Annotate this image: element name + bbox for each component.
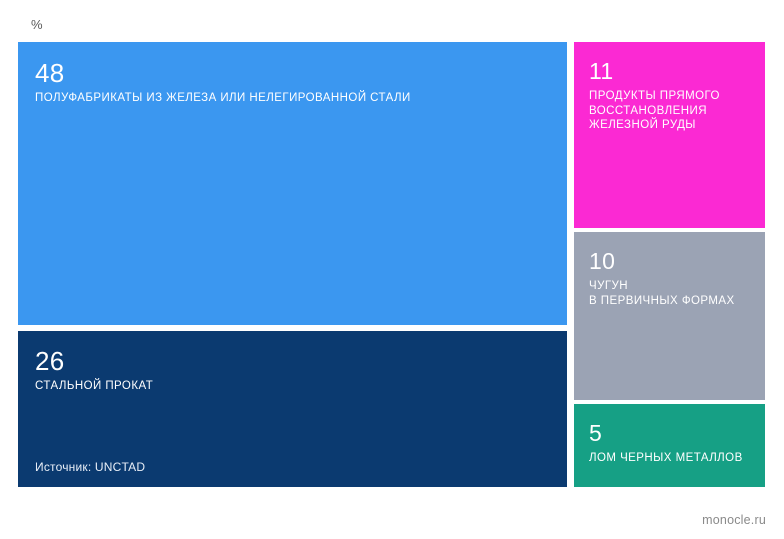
- source-note: Источник: UNCTAD: [35, 460, 145, 474]
- treemap-chart: % 48 ПОЛУФАБРИКАТЫ ИЗ ЖЕЛЕЗА ИЛИ НЕЛЕГИР…: [0, 0, 784, 539]
- unit-axis-label: %: [31, 17, 43, 32]
- treemap-tile-ferrous-scrap[interactable]: 5 ЛОМ ЧЕРНЫХ МЕТАЛЛОВ: [574, 404, 765, 487]
- tile-value-rolled-steel: 26: [35, 346, 551, 376]
- treemap-tile-direct-reduced-iron[interactable]: 11 ПРОДУКТЫ ПРЯМОГО ВОССТАНОВЛЕНИЯ ЖЕЛЕЗ…: [574, 42, 765, 228]
- tile-content-ferrous-scrap: 5 ЛОМ ЧЕРНЫХ МЕТАЛЛОВ: [574, 404, 765, 466]
- tile-label-pig-iron: ЧУГУН В ПЕРВИЧНЫХ ФОРМАХ: [589, 279, 749, 308]
- tile-label-ferrous-scrap: ЛОМ ЧЕРНЫХ МЕТАЛЛОВ: [589, 451, 749, 466]
- site-watermark: monocle.ru: [702, 513, 766, 527]
- treemap-tile-semis[interactable]: 48 ПОЛУФАБРИКАТЫ ИЗ ЖЕЛЕЗА ИЛИ НЕЛЕГИРОВ…: [18, 42, 567, 325]
- tile-value-direct-reduced-iron: 11: [589, 56, 749, 86]
- tile-label-semis: ПОЛУФАБРИКАТЫ ИЗ ЖЕЛЕЗА ИЛИ НЕЛЕГИРОВАНН…: [35, 91, 551, 106]
- treemap-tile-rolled-steel[interactable]: 26 СТАЛЬНОЙ ПРОКАТ Источник: UNCTAD: [18, 331, 567, 487]
- tile-value-ferrous-scrap: 5: [589, 418, 749, 448]
- treemap-tile-pig-iron[interactable]: 10 ЧУГУН В ПЕРВИЧНЫХ ФОРМАХ: [574, 232, 765, 400]
- tile-content-pig-iron: 10 ЧУГУН В ПЕРВИЧНЫХ ФОРМАХ: [574, 232, 765, 308]
- tile-value-pig-iron: 10: [589, 246, 749, 276]
- tile-content-semis: 48 ПОЛУФАБРИКАТЫ ИЗ ЖЕЛЕЗА ИЛИ НЕЛЕГИРОВ…: [18, 42, 567, 106]
- tile-value-semis: 48: [35, 58, 551, 88]
- tile-label-rolled-steel: СТАЛЬНОЙ ПРОКАТ: [35, 379, 551, 394]
- treemap-tiles-container: 48 ПОЛУФАБРИКАТЫ ИЗ ЖЕЛЕЗА ИЛИ НЕЛЕГИРОВ…: [18, 42, 765, 487]
- tile-content-rolled-steel: 26 СТАЛЬНОЙ ПРОКАТ: [18, 331, 567, 394]
- tile-content-direct-reduced-iron: 11 ПРОДУКТЫ ПРЯМОГО ВОССТАНОВЛЕНИЯ ЖЕЛЕЗ…: [574, 42, 765, 133]
- tile-label-direct-reduced-iron: ПРОДУКТЫ ПРЯМОГО ВОССТАНОВЛЕНИЯ ЖЕЛЕЗНОЙ…: [589, 89, 749, 133]
